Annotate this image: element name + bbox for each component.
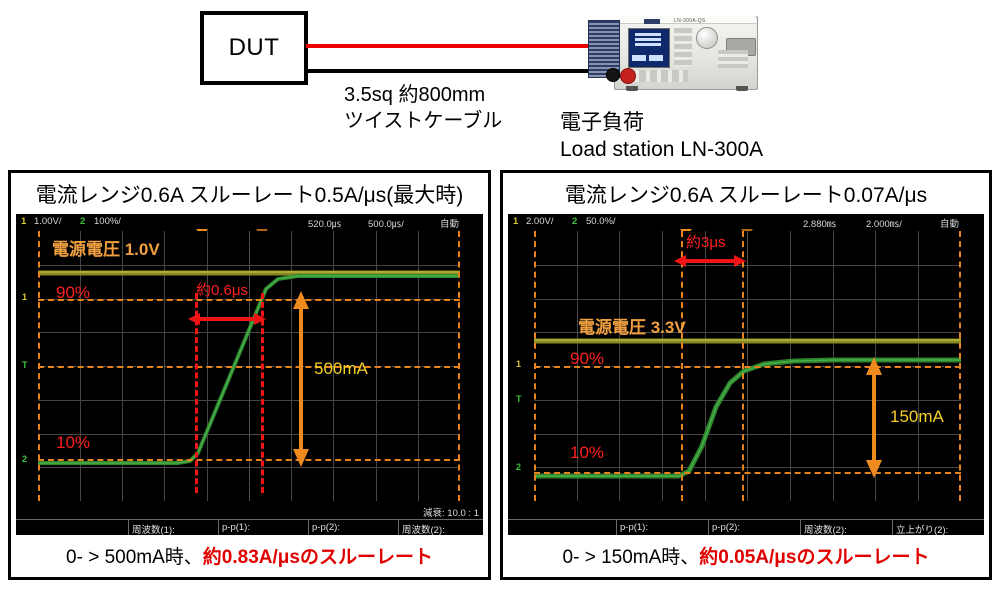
cable-spec-line1: 3.5sq 約800mm [344, 82, 574, 108]
scope-left-trigger-level-marker[interactable]: T [22, 360, 28, 370]
scope-right-ch2-number: 2 [572, 216, 577, 227]
measurement-cell[interactable]: p-p(2): 163mA [708, 520, 800, 535]
meas-right-3-label: 周波数(2): [804, 522, 847, 535]
load-display-softkey-blue [649, 55, 663, 61]
scope-right-rise-cursor-start[interactable] [681, 231, 683, 501]
scope-left-ch2-scale: 100%/ [94, 216, 121, 227]
dut-label: DUT [204, 15, 304, 81]
electronic-load-illustration: LN-300A-QS [586, 8, 756, 98]
load-model-text: LN-300A-QS [674, 18, 706, 24]
load-display-line3 [635, 43, 661, 46]
scope-left-level-90-label: 90% [56, 283, 90, 303]
panel-right-title: 電流レンジ0.6A スルーレート0.07A/μs [503, 175, 989, 213]
scope-left-supply-voltage-label: 電源電圧 1.0V [52, 235, 160, 260]
scope-left-ch1-scale: 1.00V/ [34, 216, 61, 227]
oscilloscope-screen-left: 1 1.00V/ 2 100%/ 520.0㎲ 500.0㎲/ 自動 [16, 214, 483, 535]
panel-right-caption-prefix: 0- > 150mA時、 [563, 542, 700, 569]
panel-right-caption: 0- > 150mA時、約0.05A/μsのスルーレート [503, 535, 989, 575]
scope-right-rise-time-label: 約3μs [686, 231, 726, 252]
scope-left-rise-arrow [188, 309, 273, 329]
scope-left-cursor-90pct[interactable] [38, 299, 460, 301]
measurement-panel-right: 電流レンジ0.6A スルーレート0.07A/μs 1 2.00V/ 2 50.0… [500, 170, 992, 580]
load-display-softkey-red [632, 55, 646, 61]
measurement-cell[interactable]: 周波数(2): エッジ なし [800, 520, 892, 535]
scope-left-delay: 520.0㎲ [308, 216, 341, 230]
scope-left-timebase: 500.0㎲/ [368, 216, 404, 230]
measurement-cell[interactable]: p-p(1): 400mV [616, 520, 708, 535]
panel-left-caption-highlight: 約0.83A/μsのスルーレート [203, 542, 433, 569]
load-side-buttons [674, 28, 692, 66]
load-foot-right [736, 86, 748, 91]
meas-left-2-label: p-p(1): [222, 522, 250, 533]
measurement-panel-left: 電流レンジ0.6A スルーレート0.5A/μs(最大時) 1 1.00V/ 2 … [8, 170, 491, 580]
scope-right-cursor-left-edge[interactable] [534, 231, 536, 501]
load-display-screen [628, 28, 670, 68]
load-rotary-knob [696, 27, 718, 49]
test-setup-diagram: DUT 3.5sq 約800mm ツイストケーブル LN-300A-QS 電子負… [0, 0, 1000, 168]
meas-left-1-label: 周波数(1): [132, 522, 175, 535]
scope-left-measurement-bar: 周波数(1): 低信号 p-p(1): 240mV p-p(2): 527mA … [16, 519, 483, 535]
positive-wire [306, 44, 592, 48]
scope-right-ch1-marker[interactable]: 1 [516, 359, 521, 369]
scope-right-cursor-right-edge[interactable] [959, 231, 961, 501]
scope-left-graticule: 電源電圧 1.0V 約0.6μs 90% 10% 500mA [38, 231, 460, 501]
scope-right-supply-voltage-label: 電源電圧 3.3V [578, 313, 686, 338]
scope-right-ch1-number: 1 [513, 216, 518, 227]
load-positive-terminal [620, 68, 636, 84]
scope-left-rise-time-label: 約0.6μs [196, 279, 248, 300]
load-label-line2: Load station LN-300A [560, 137, 910, 164]
scope-left-ch1-number: 1 [21, 216, 26, 227]
measurement-cell[interactable]: p-p(2): 527mA [308, 520, 398, 535]
scope-right-delay: 2.880㎳ [803, 216, 836, 230]
cable-spec-label: 3.5sq 約800mm ツイストケーブル [344, 82, 574, 135]
cable-spec-line2: ツイストケーブル [344, 108, 574, 134]
meas-right-2-label: p-p(2): [712, 522, 740, 533]
scope-left-level-10-label: 10% [56, 433, 90, 453]
panel-left-caption-prefix: 0- > 500mA時、 [66, 542, 203, 569]
scope-right-trigger-level-marker[interactable]: T [516, 394, 522, 404]
load-label-line1: 電子負荷 [560, 110, 910, 137]
scope-left-ch2-number: 2 [80, 216, 85, 227]
scope-left-ch2-marker[interactable]: 2 [22, 454, 27, 464]
meas-left-3-label: p-p(2): [312, 522, 340, 533]
load-display-line2 [635, 38, 661, 41]
scope-right-cursor-10pct[interactable] [534, 472, 961, 474]
scope-right-rise-cursor-end[interactable] [742, 231, 744, 501]
scope-right-level-10-label: 10% [570, 443, 604, 463]
load-brand-logo [644, 19, 660, 24]
dut-box: DUT [200, 11, 308, 85]
load-station-label: 電子負荷 Load station LN-300A [560, 110, 910, 164]
panel-left-caption: 0- > 500mA時、約0.83A/μsのスルーレート [11, 535, 488, 575]
scope-left-cursor-right-edge[interactable] [458, 231, 460, 501]
load-bottom-buttons [628, 70, 688, 82]
measurement-cell[interactable]: 周波数(1): 低信号 [128, 520, 218, 535]
load-keypad [718, 50, 748, 68]
scope-right-timebase: 2.000㎳/ [866, 216, 902, 230]
load-display-line1 [635, 33, 661, 36]
scope-left-attenuation: 減衰: 10.0 : 1 [423, 505, 479, 519]
oscilloscope-screen-right: 1 2.00V/ 2 50.0%/ 2.880㎳ 2.000㎳/ 自動 [508, 214, 984, 535]
panel-right-caption-highlight: 約0.05A/μsのスルーレート [699, 542, 929, 569]
scope-left-cursor-left-edge[interactable] [38, 231, 40, 501]
meas-right-1-label: p-p(1): [620, 522, 648, 533]
scope-left-topbar: 1 1.00V/ 2 100%/ 520.0㎲ 500.0㎲/ 自動 [16, 214, 483, 229]
load-foot-left [626, 86, 638, 91]
scope-right-rise-arrow [674, 251, 759, 271]
scope-left-trigger-mode: 自動 [440, 216, 459, 230]
scope-right-measurement-bar: p-p(1): 400mV p-p(2): 163mA 周波数(2): エッジ … [508, 519, 984, 535]
measurement-cell[interactable]: p-p(1): 240mV [218, 520, 308, 535]
scope-left-amplitude-label: 500mA [314, 359, 368, 379]
scope-right-level-90-label: 90% [570, 349, 604, 369]
scope-left-cursor-mid[interactable] [38, 366, 460, 368]
scope-left-cursor-10pct[interactable] [38, 459, 460, 461]
meas-right-4-label: 立上がり(2): [896, 522, 948, 535]
scope-right-graticule: 電源電圧 3.3V 約3μs 90% 10% 150mA [534, 231, 961, 501]
scope-right-ch1-scale: 2.00V/ [526, 216, 553, 227]
scope-right-trigger-mode: 自動 [940, 216, 959, 230]
measurement-cell[interactable]: 立上がり(2): 2.9650us [892, 520, 984, 535]
load-negative-terminal [606, 68, 620, 82]
scope-right-amplitude-label: 150mA [890, 407, 944, 427]
scope-right-topbar: 1 2.00V/ 2 50.0%/ 2.880㎳ 2.000㎳/ 自動 [508, 214, 984, 229]
panel-left-title: 電流レンジ0.6A スルーレート0.5A/μs(最大時) [11, 175, 488, 213]
scope-right-ch2-scale: 50.0%/ [586, 216, 616, 227]
scope-right-ch2-marker[interactable]: 2 [516, 462, 521, 472]
meas-left-4-label: 周波数(2): [402, 522, 445, 535]
measurement-cell[interactable]: 周波数(2): エッジ なし [398, 520, 483, 535]
scope-left-ch1-marker[interactable]: 1 [22, 292, 27, 302]
negative-wire [306, 69, 592, 73]
